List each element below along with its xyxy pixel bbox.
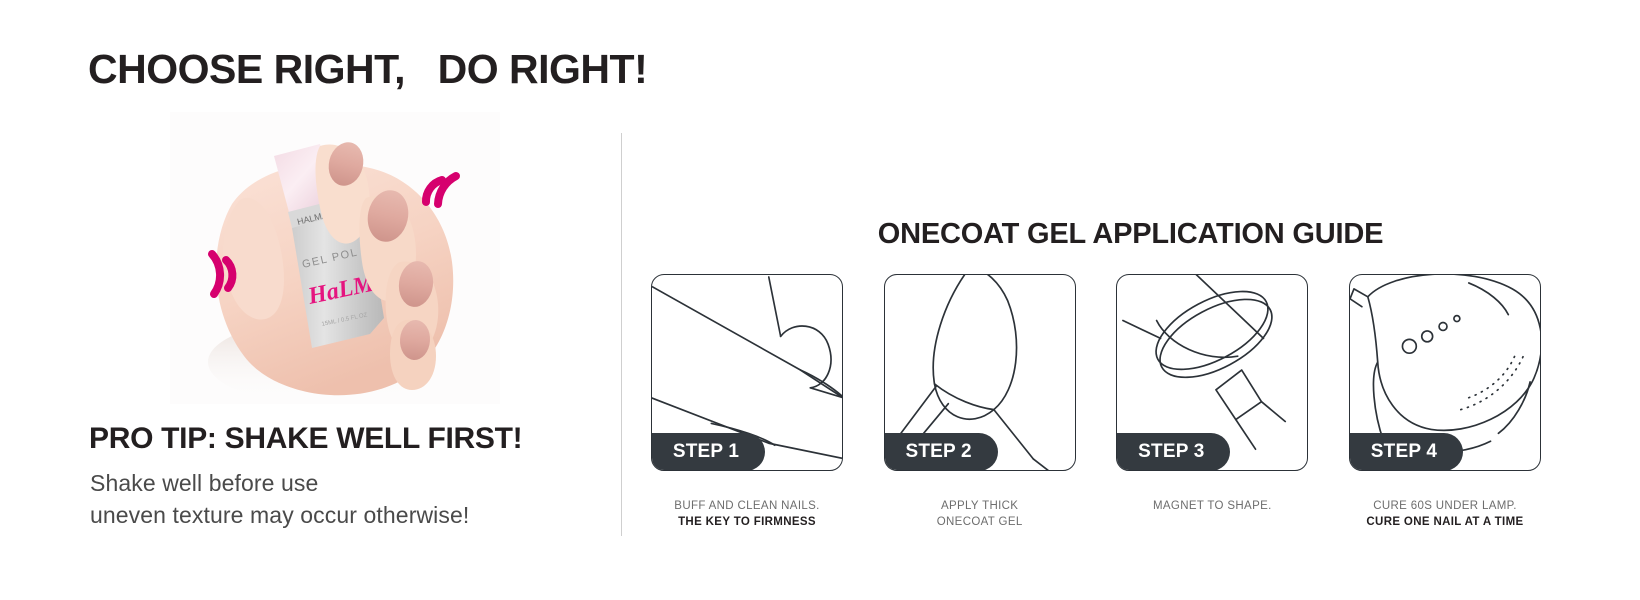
guide-title: ONECOAT GEL APPLICATION GUIDE (621, 218, 1640, 251)
step-4-illustration-card: STEP 4 (1349, 274, 1541, 471)
step-1-badge: STEP 1 (651, 433, 765, 471)
product-photo: HALMAL GEL POL HaLMal 15ML / 0.5 FL OZ (170, 112, 500, 404)
step-3-caption-line-1: MAGNET TO SHAPE. (1116, 498, 1308, 514)
step-1-caption-line-2: THE KEY TO FIRMNESS (651, 514, 843, 530)
pro-tip-line-2: uneven texture may occur otherwise! (90, 499, 469, 531)
step-3-illustration-card: STEP 3 (1116, 274, 1308, 471)
step-4-badge: STEP 4 (1349, 433, 1463, 471)
step-card-4: STEP 4 CURE 60S UNDER LAMP. CURE ONE NAI… (1349, 274, 1541, 534)
step-1-illustration-card: STEP 1 (651, 274, 843, 471)
pro-tip-body: Shake well before use uneven texture may… (90, 467, 469, 531)
right-column: ONECOAT GEL APPLICATION GUIDE (621, 0, 1640, 600)
step-2-illustration-card: STEP 2 (884, 274, 1076, 471)
step-2-caption: APPLY THICK ONECOAT GEL (884, 498, 1076, 530)
step-1-caption-line-1: BUFF AND CLEAN NAILS. (651, 498, 843, 514)
curing-light-dots (1461, 352, 1524, 409)
pro-tip-title: PRO TIP: SHAKE WELL FIRST! (89, 422, 522, 456)
step-2-caption-line-1: APPLY THICK (884, 498, 1076, 514)
promo-banner: CHOOSE RIGHT, DO RIGHT! (0, 0, 1640, 600)
hand-holding-bottle-illustration: HALMAL GEL POL HaLMal 15ML / 0.5 FL OZ (170, 112, 500, 404)
pro-tip-line-1: Shake well before use (90, 467, 469, 499)
page-title: CHOOSE RIGHT, DO RIGHT! (88, 46, 647, 93)
step-3-caption: MAGNET TO SHAPE. (1116, 498, 1308, 514)
step-1-caption: BUFF AND CLEAN NAILS. THE KEY TO FIRMNES… (651, 498, 843, 530)
step-4-caption: CURE 60S UNDER LAMP. CURE ONE NAIL AT A … (1349, 498, 1541, 530)
step-2-badge: STEP 2 (884, 433, 998, 471)
step-card-2: STEP 2 APPLY THICK ONECOAT GEL (884, 274, 1076, 534)
step-2-caption-line-2: ONECOAT GEL (884, 514, 1076, 530)
left-column: CHOOSE RIGHT, DO RIGHT! (0, 0, 620, 600)
step-card-1: STEP 1 BUFF AND CLEAN NAILS. THE KEY TO … (651, 274, 843, 534)
steps-row: STEP 1 BUFF AND CLEAN NAILS. THE KEY TO … (651, 274, 1541, 534)
step-4-caption-line-2: CURE ONE NAIL AT A TIME (1349, 514, 1541, 530)
step-4-caption-line-1: CURE 60S UNDER LAMP. (1349, 498, 1541, 514)
step-card-3: STEP 3 MAGNET TO SHAPE. (1116, 274, 1308, 534)
step-3-badge: STEP 3 (1116, 433, 1230, 471)
shake-motion-arc-right (426, 176, 456, 204)
